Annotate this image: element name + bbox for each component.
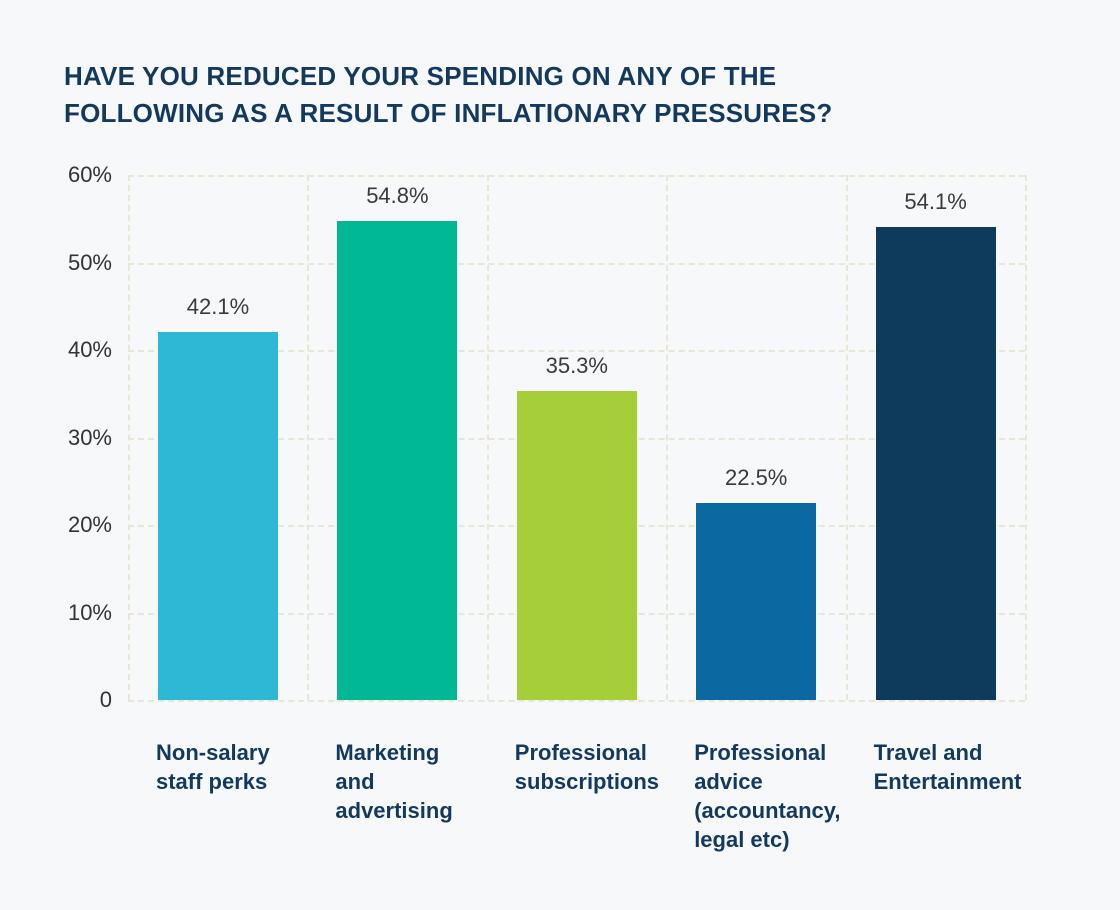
bar-value-label: 22.5%: [725, 465, 787, 491]
plot-area: 42.1%54.8%35.3%22.5%54.1%: [128, 175, 1025, 700]
bar-value-label: 54.8%: [366, 183, 428, 209]
chart-title-line-2: FOLLOWING AS A RESULT OF INFLATIONARY PR…: [64, 95, 1004, 132]
y-axis-tick-label: 60%: [12, 162, 112, 188]
bar-value-label: 42.1%: [187, 294, 249, 320]
bar[interactable]: [337, 221, 457, 701]
y-axis-tick-label: 0: [12, 687, 112, 713]
bar[interactable]: [876, 227, 996, 700]
gridline-vertical: [846, 175, 848, 700]
bar-chart-figure: HAVE YOU REDUCED YOUR SPENDING ON ANY OF…: [0, 0, 1120, 910]
chart-title-line-1: HAVE YOU REDUCED YOUR SPENDING ON ANY OF…: [64, 58, 1004, 95]
x-axis-category-label: Non-salary staff perks: [156, 738, 341, 796]
bar-value-label: 54.1%: [904, 189, 966, 215]
y-axis-tick-label: 20%: [12, 512, 112, 538]
y-axis-tick-label: 40%: [12, 337, 112, 363]
x-axis-category-label: Professional subscriptions: [515, 738, 700, 796]
gridline-vertical: [307, 175, 309, 700]
chart-title: HAVE YOU REDUCED YOUR SPENDING ON ANY OF…: [64, 58, 1004, 132]
gridline-horizontal: [128, 700, 1025, 702]
x-axis-category-label: Marketing and advertising: [335, 738, 520, 825]
gridline-vertical: [666, 175, 668, 700]
y-axis-tick-label: 10%: [12, 600, 112, 626]
gridline-vertical: [128, 175, 130, 700]
bar-value-label: 35.3%: [546, 353, 608, 379]
x-axis-category-label: Professional advice (accountancy, legal …: [694, 738, 879, 854]
gridline-vertical: [487, 175, 489, 700]
bar[interactable]: [158, 332, 278, 700]
y-axis-tick-label: 50%: [12, 250, 112, 276]
x-axis-category-label: Travel and Entertainment: [874, 738, 1059, 796]
gridline-horizontal: [128, 175, 1025, 177]
y-axis-tick-label: 30%: [12, 425, 112, 451]
bar[interactable]: [517, 391, 637, 700]
gridline-vertical: [1025, 175, 1027, 700]
bar[interactable]: [696, 503, 816, 700]
